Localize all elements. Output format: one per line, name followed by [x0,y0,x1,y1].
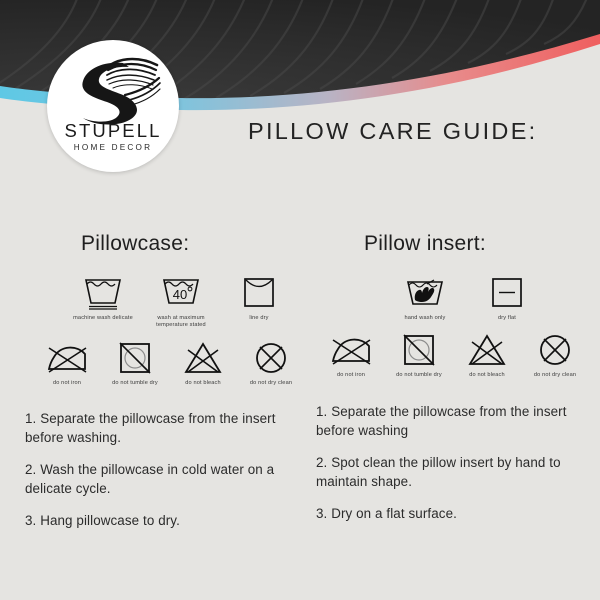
instruction-item: 3. Dry on a flat surface. [316,504,576,523]
do-not-tumble-dry-icon [112,341,158,375]
care-symbol-dry-flat: dry flat [478,274,536,322]
care-symbol-caption: machine wash delicate [70,315,136,322]
svg-text:40: 40 [173,287,187,302]
care-symbol-caption: do not dry clean [522,372,588,379]
care-symbol-row-wash: machine wash delicate 40 wash at maximum… [22,274,300,330]
do-not-dry-clean-icon [532,333,578,367]
instruction-item: 2. Spot clean the pillow insert by hand … [316,453,576,491]
care-symbol-caption: wash at maximum temperature stated [148,315,214,330]
care-symbol-wash-max-temperature: 40 wash at maximum temperature stated [152,274,210,330]
wash-max-temperature-40-icon: 40 [159,274,203,310]
section-heading-pillow-insert: Pillow insert: [310,232,588,256]
care-symbol-row-prohibitions: do not iron do not tumble dry do not ble… [310,333,588,379]
care-symbol-do-not-tumble-dry: do not tumble dry [390,333,448,379]
hand-wash-only-icon [403,274,447,310]
instructions-pillowcase: 1. Separate the pillowcase from the inse… [22,409,293,530]
care-symbol-caption: hand wash only [392,315,458,322]
dry-flat-icon [485,274,529,310]
care-symbol-do-not-dry-clean: do not dry clean [242,341,300,387]
care-symbol-caption: do not bleach [454,372,520,379]
do-not-bleach-icon [464,333,510,367]
line-dry-icon [237,274,281,310]
care-symbol-do-not-tumble-dry: do not tumble dry [106,341,164,387]
care-symbol-do-not-iron: do not iron [322,333,380,379]
section-pillow-insert: Pillow insert: hand wash only dry flat [310,232,588,523]
do-not-bleach-icon [180,341,226,375]
care-symbol-do-not-iron: do not iron [38,341,96,387]
brand-name: STUPELL [47,120,179,142]
care-symbol-do-not-bleach: do not bleach [458,333,516,379]
instructions-pillow-insert: 1. Separate the pillowcase from the inse… [310,402,576,523]
care-symbol-caption: line dry [226,315,292,322]
care-symbol-row-prohibitions: do not iron do not tumble dry do not ble… [22,341,300,387]
care-symbol-do-not-bleach: do not bleach [174,341,232,387]
instruction-item: 1. Separate the pillowcase from the inse… [316,402,576,440]
care-symbol-caption: do not iron [34,380,100,387]
care-symbol-caption: dry flat [474,315,540,322]
care-symbol-caption: do not tumble dry [102,380,168,387]
care-symbol-machine-wash-delicate: machine wash delicate [74,274,132,322]
do-not-tumble-dry-icon [396,333,442,367]
care-symbol-row-wash: hand wash only dry flat [310,274,588,322]
machine-wash-delicate-icon [81,274,125,310]
pillow-care-guide-page: STUPELL HOME DECOR PILLOW CARE GUIDE: Pi… [0,0,600,600]
care-symbol-line-dry: line dry [230,274,288,322]
care-symbol-caption: do not bleach [170,380,236,387]
do-not-dry-clean-icon [248,341,294,375]
do-not-iron-icon [44,341,90,375]
page-title: PILLOW CARE GUIDE: [248,118,538,145]
instruction-item: 2. Wash the pillowcase in cold water on … [25,460,293,498]
section-pillowcase: Pillowcase: machine wash delicate 40 [22,232,300,530]
instruction-item: 3. Hang pillowcase to dry. [25,511,293,530]
brand-logo-badge: STUPELL HOME DECOR [47,40,179,172]
care-symbol-do-not-dry-clean: do not dry clean [526,333,584,379]
care-symbol-caption: do not dry clean [238,380,304,387]
care-symbol-caption: do not tumble dry [386,372,452,379]
care-symbol-caption: do not iron [318,372,384,379]
section-heading-pillowcase: Pillowcase: [22,232,300,256]
do-not-iron-icon [328,333,374,367]
brand-tagline: HOME DECOR [47,143,179,152]
care-symbol-hand-wash-only: hand wash only [396,274,454,322]
instruction-item: 1. Separate the pillowcase from the inse… [25,409,293,447]
